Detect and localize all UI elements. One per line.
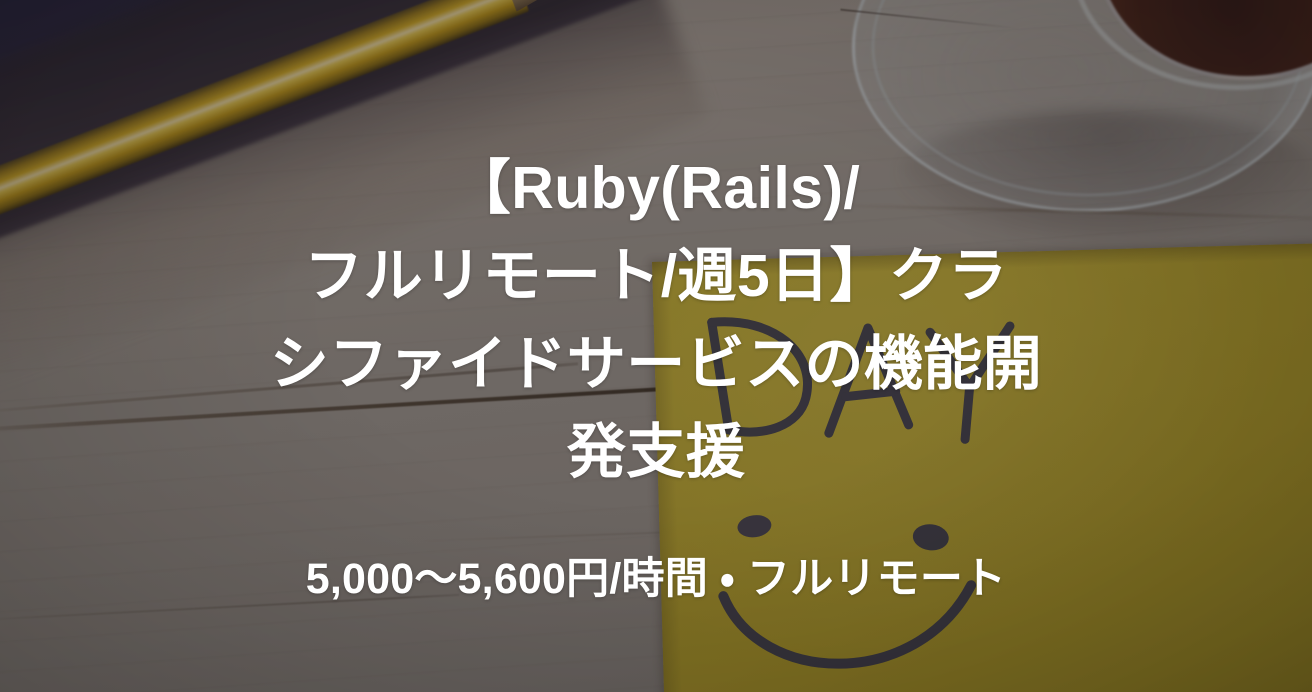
banner-title: 【Ruby(Rails)/ フルリモート/週5日】クラ シファイドサービスの機能…: [0, 144, 1312, 496]
title-line-1: 【Ruby(Rails)/: [200, 144, 1112, 232]
title-line-4: 発支援: [200, 408, 1112, 496]
title-line-2: フルリモート/週5日】クラ: [200, 232, 1112, 320]
banner-content: 【Ruby(Rails)/ フルリモート/週5日】クラ シファイドサービスの機能…: [0, 0, 1312, 692]
job-posting-banner: 【Ruby(Rails)/ フルリモート/週5日】クラ シファイドサービスの機能…: [0, 0, 1312, 692]
title-line-3: シファイドサービスの機能開: [200, 320, 1112, 408]
banner-subtitle: 5,000〜5,600円/時間 ・ フルリモート: [0, 549, 1312, 609]
